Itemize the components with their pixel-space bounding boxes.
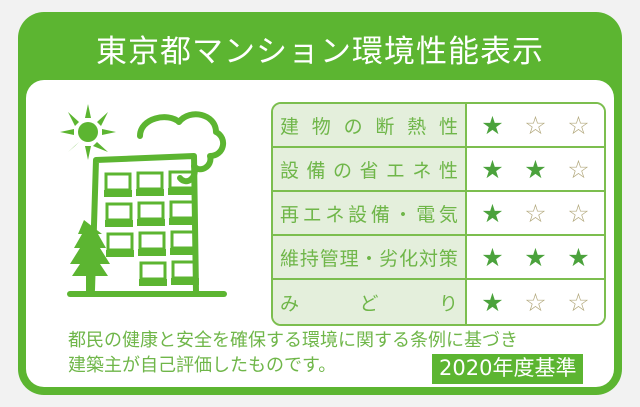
rating-stars-insulation: ★ ☆ ☆: [467, 104, 604, 146]
building-windows: [104, 172, 199, 286]
star-filled: ★: [481, 157, 503, 182]
star-empty: ☆: [567, 113, 589, 138]
table-row: 維 持 管 理 ・ 劣 化 対 策 ★ ★ ★: [273, 236, 604, 280]
screenshot-root: 東京都マンション環境性能表示: [0, 0, 640, 407]
page-title: 東京都マンション環境性能表示: [18, 32, 622, 72]
sun-icon: [60, 104, 116, 160]
star-filled: ★: [481, 245, 503, 270]
rating-label-insulation: 建 物 の 断 熱 性: [273, 104, 467, 146]
star-filled: ★: [481, 201, 503, 226]
star-filled: ★: [524, 245, 546, 270]
star-empty: ☆: [567, 290, 589, 315]
star-empty: ☆: [567, 201, 589, 226]
star-filled: ★: [524, 157, 546, 182]
label-inner-panel: 建 物 の 断 熱 性 ★ ☆ ☆ 設: [26, 80, 614, 387]
footer: 都民の健康と安全を確保する環境に関する条例に基づき 建築主が自己評価したものです…: [26, 328, 614, 386]
environmental-label-card: 東京都マンション環境性能表示: [18, 12, 622, 395]
star-empty: ☆: [524, 290, 546, 315]
star-empty: ☆: [567, 157, 589, 182]
rating-table: 建 物 の 断 熱 性 ★ ☆ ☆ 設: [271, 102, 606, 326]
table-row: 設 備 の 省 エ ネ 性 ★ ★ ☆: [273, 148, 604, 192]
rating-stars-equipment-energy: ★ ★ ☆: [467, 148, 604, 190]
tree-icon: [70, 220, 110, 296]
rating-label-renewable-energy: 再 エ ネ 設 備 ・ 電 気: [273, 192, 467, 234]
rating-stars-greenery: ★ ☆ ☆: [467, 280, 604, 324]
rating-label-equipment-energy: 設 備 の 省 エ ネ 性: [273, 148, 467, 190]
table-row: 再 エ ネ 設 備 ・ 電 気 ★ ☆ ☆: [273, 192, 604, 236]
eco-apartment-illustration: [48, 94, 260, 318]
table-row: 建 物 の 断 熱 性 ★ ☆ ☆: [273, 104, 604, 148]
table-row: み ど り ★ ☆ ☆: [273, 280, 604, 324]
star-filled: ★: [481, 290, 503, 315]
rating-label-greenery: み ど り: [273, 280, 467, 324]
star-empty: ☆: [524, 113, 546, 138]
star-filled: ★: [481, 113, 503, 138]
star-empty: ☆: [524, 201, 546, 226]
rating-stars-maintenance: ★ ★ ★: [467, 236, 604, 278]
footer-note-line2: 建築主が自己評価したものです。: [68, 353, 336, 378]
star-filled: ★: [567, 245, 589, 270]
rating-label-maintenance: 維 持 管 理 ・ 劣 化 対 策: [273, 236, 467, 278]
rating-stars-renewable-energy: ★ ☆ ☆: [467, 192, 604, 234]
standard-year-badge: 2020年度基準: [432, 354, 583, 384]
footer-note-line1: 都民の健康と安全を確保する環境に関する条例に基づき: [68, 328, 518, 353]
